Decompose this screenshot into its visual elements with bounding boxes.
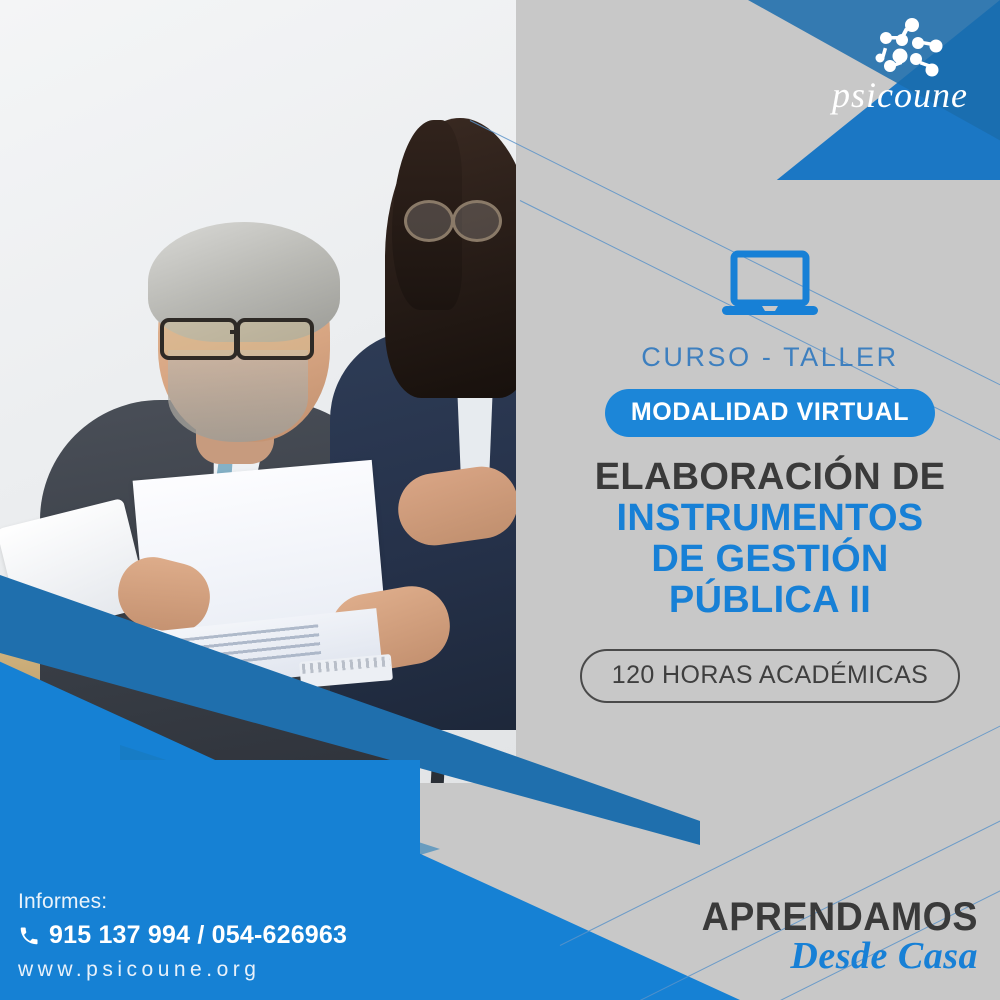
contact-label: Informes: [18, 890, 347, 914]
title-line-3: DE GESTIÓN [560, 539, 980, 580]
tagline-line-1: APRENDAMOS [702, 895, 978, 940]
academic-hours-badge: 120 HORAS ACADÉMICAS [580, 649, 960, 703]
course-info-block: CURSO - TALLER MODALIDAD VIRTUAL ELABORA… [560, 250, 980, 703]
laptop-icon [718, 250, 822, 320]
contact-phone-numbers: 915 137 994 / 054-626963 [49, 921, 347, 950]
logo-wordmark: psicoune [832, 74, 968, 116]
tagline-block: APRENDAMOS Desde Casa [684, 895, 978, 978]
title-line-2: INSTRUMENTOS [560, 498, 980, 539]
molecule-network-icon [850, 18, 946, 80]
contact-phone-row[interactable]: 915 137 994 / 054-626963 [18, 921, 347, 950]
man-eyeglasses-right [236, 318, 314, 360]
brand-logo[interactable]: psicoune [802, 18, 982, 116]
woman-eyeglasses-left [404, 200, 454, 242]
title-line-4: PÚBLICA II [560, 580, 980, 621]
woman-eyeglasses-right [452, 200, 502, 242]
title-line-1: ELABORACIÓN DE [560, 457, 980, 498]
phone-handset-icon [18, 925, 40, 947]
tagline-line-2: Desde Casa [684, 934, 978, 978]
contact-website[interactable]: www.psicoune.org [18, 958, 347, 982]
man-eyeglasses-left [160, 318, 238, 360]
man-eyeglasses-bridge [230, 330, 238, 334]
man-beard [168, 350, 308, 442]
contact-block: Informes: 915 137 994 / 054-626963 www.p… [18, 890, 347, 982]
course-title: ELABORACIÓN DE INSTRUMENTOS DE GESTIÓN P… [560, 457, 980, 621]
modality-badge: MODALIDAD VIRTUAL [605, 389, 935, 437]
promotional-poster: psicoune CURSO - TALLER MODALIDAD VIRTUA… [0, 0, 1000, 1000]
course-kicker: CURSO - TALLER [560, 342, 980, 373]
